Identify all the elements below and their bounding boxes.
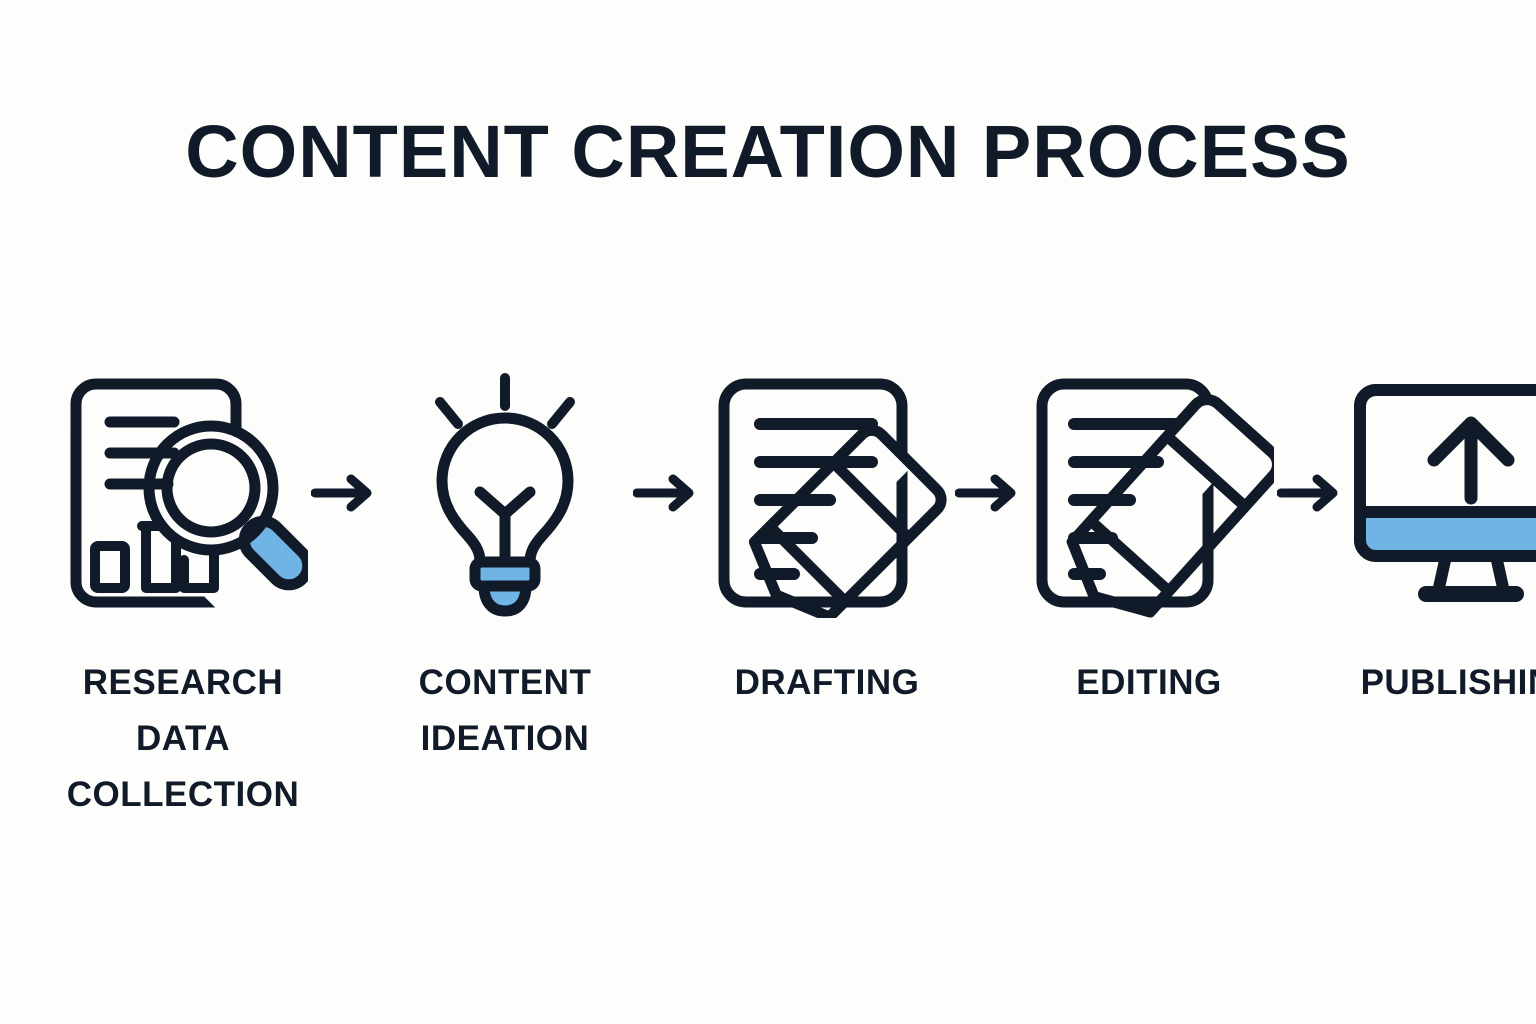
arrow-right-icon: [955, 473, 1021, 513]
step-research-data-collection[interactable]: [58, 368, 308, 618]
label-line: CONTENT: [380, 655, 630, 711]
label-line: COLLECTION: [58, 767, 308, 823]
step-editing[interactable]: [1024, 368, 1274, 618]
label-line: DATA: [58, 711, 308, 767]
step-label-research-data-collection: RESEARCH DATA COLLECTION: [58, 655, 308, 823]
label-line: DRAFTING: [702, 655, 952, 711]
document-magnifier-chart-icon: [58, 368, 308, 618]
document-pencil-edit-icon: [1024, 368, 1274, 618]
process-flow-row: [58, 368, 1478, 618]
label-line: RESEARCH: [58, 655, 308, 711]
step-label-publishing: PUBLISHING: [1346, 655, 1536, 711]
flow-arrow-1: [308, 463, 380, 523]
page-title: CONTENT CREATION PROCESS: [0, 108, 1536, 196]
infographic-canvas: CONTENT CREATION PROCESS: [0, 0, 1536, 1024]
label-line: EDITING: [1024, 655, 1274, 711]
step-publishing[interactable]: [1346, 368, 1536, 618]
step-label-drafting: DRAFTING: [702, 655, 952, 711]
arrow-right-icon: [311, 473, 377, 513]
step-label-editing: EDITING: [1024, 655, 1274, 711]
document-pencil-icon: [702, 368, 952, 618]
process-labels-row: RESEARCH DATA COLLECTION CONTENT IDEATIO…: [58, 655, 1478, 823]
flow-arrow-2: [630, 463, 702, 523]
label-line: IDEATION: [380, 711, 630, 767]
arrow-right-icon: [1277, 473, 1343, 513]
step-content-ideation[interactable]: [380, 368, 630, 618]
flow-arrow-3: [952, 463, 1024, 523]
flow-arrow-4: [1274, 463, 1346, 523]
lightbulb-icon: [380, 368, 630, 618]
step-drafting[interactable]: [702, 368, 952, 618]
monitor-upload-icon: [1346, 368, 1536, 618]
step-label-content-ideation: CONTENT IDEATION: [380, 655, 630, 767]
label-line: PUBLISHING: [1346, 655, 1536, 711]
arrow-right-icon: [633, 473, 699, 513]
